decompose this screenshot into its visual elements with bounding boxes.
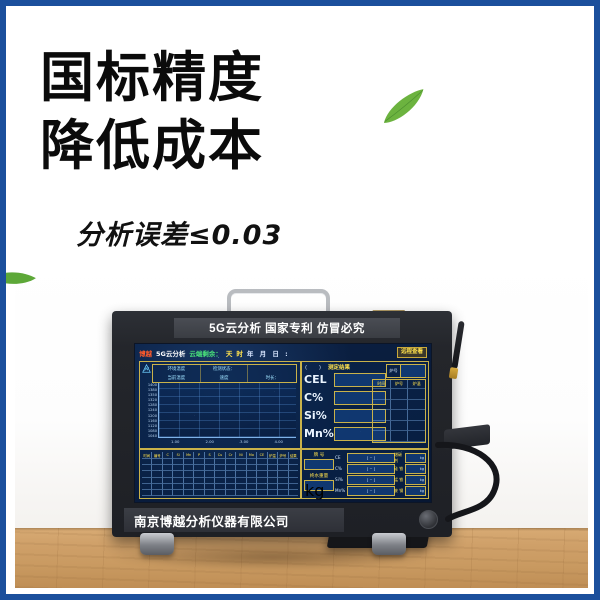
- addition-row-ferrosilicon: 硅 铁 kg: [394, 464, 426, 473]
- page-title: 国标精度 降低成本: [40, 44, 264, 180]
- range-label: CE: [335, 455, 346, 460]
- col-header: Mo: [247, 452, 257, 459]
- col-header: Ni: [236, 452, 246, 459]
- duration-label: 时长：: [248, 374, 296, 383]
- x-tick: 1.00: [171, 439, 179, 446]
- y-tick: 1280: [141, 403, 158, 407]
- history-table-panel[interactable]: 时间 编号 C Si Mn P S Cu Cr Ni Mo CE: [139, 449, 301, 499]
- col-header: P: [194, 452, 204, 459]
- chart-status-header: 环境温度 检测状态： 当前温度 速度 时长：: [152, 364, 297, 383]
- datetime-display: 年 月 日 :: [247, 348, 290, 358]
- range-value: [ ~ ]: [347, 464, 395, 474]
- col-header: Mn: [184, 452, 194, 459]
- table-header-row: 时间 炉号 炉温: [373, 380, 425, 389]
- device-banner: 5G云分析 国家专利 仿冒必究: [174, 318, 400, 338]
- col-header: S: [205, 452, 215, 459]
- col-header: Cu: [215, 452, 225, 459]
- range-label: Mn%: [335, 488, 346, 493]
- col-header: C: [163, 452, 173, 459]
- detect-status-label: 检测状态：: [201, 365, 249, 374]
- col-header: CE: [257, 452, 267, 459]
- addition-value: kg: [405, 453, 426, 463]
- range-label: C%: [335, 466, 346, 471]
- addition-row-carburizer: 增碳剂 kg: [394, 453, 426, 462]
- cable: [434, 439, 514, 523]
- result-label: CEL: [304, 374, 334, 385]
- cooling-curve-plot: [158, 383, 296, 438]
- col-header: 炉号: [391, 380, 409, 389]
- range-row-mn: Mn% [ ~ ]: [335, 486, 395, 495]
- furnace-number-field[interactable]: 炉号: [386, 364, 426, 378]
- analyzer-device: 5G云分析 国家专利 仿冒必究 博越 5G云分析 云端剩余： 天 时 年 月 日: [112, 311, 452, 537]
- poster-root: 国标精度 降低成本 分析误差≤0.03: [0, 0, 600, 600]
- addition-label: 硅 铁: [394, 466, 404, 472]
- addition-label: 锰 铁: [394, 477, 404, 483]
- result-title: ( ) 测定结果: [305, 363, 350, 371]
- y-tick: 1040: [141, 434, 158, 438]
- furnace-log-table[interactable]: 时间 炉号 炉温: [372, 379, 426, 443]
- result-label: Si%: [304, 410, 334, 421]
- range-label: Si%: [335, 477, 346, 482]
- chart-x-axis: 1.00 2.00 3.00 4.00: [158, 439, 296, 446]
- result-title-prefix: ( ): [305, 365, 326, 371]
- col-header: 时间: [373, 380, 391, 389]
- headline-line1: 国标精度: [40, 46, 264, 109]
- remote-view-button[interactable]: 远程查看: [397, 347, 427, 358]
- chart-y-axis: 1400 1380 1350 1320 1280 1240 1200 1160 …: [141, 383, 158, 438]
- table-row[interactable]: [142, 490, 298, 496]
- cloud-remaining-hour: 时: [236, 348, 243, 358]
- col-header: 时间: [142, 452, 152, 459]
- grade-value: [304, 459, 334, 470]
- measurement-result-panel: ( ) 测定结果 CEL C% Si%: [301, 361, 429, 449]
- headline-line2: 降低成本: [40, 112, 264, 180]
- addition-value: kg: [405, 486, 426, 496]
- screen-brand: 博越: [139, 348, 152, 358]
- grade-label: 牌 号: [304, 452, 334, 458]
- cloud-remaining-label: 云端剩余：: [189, 348, 222, 358]
- speed-label: 速度: [201, 374, 249, 383]
- col-header: 结果: [289, 452, 298, 459]
- table-header-row: 时间 编号 C Si Mn P S Cu Cr Ni Mo CE: [142, 452, 298, 459]
- x-tick: 3.00: [240, 439, 248, 446]
- device-foot: [372, 533, 406, 555]
- col-header: 编号: [152, 452, 162, 459]
- range-value: [ ~ ]: [347, 486, 395, 496]
- addition-row-scrap: 废 钢 kg: [394, 486, 426, 495]
- col-header: Si: [173, 452, 183, 459]
- company-name: 南京博越分析仪器有限公司: [124, 508, 344, 532]
- y-tick: 1240: [141, 408, 158, 412]
- addition-value: kg: [405, 475, 426, 485]
- y-tick: 1400: [141, 383, 158, 387]
- x-tick: 2.00: [206, 439, 214, 446]
- table-row[interactable]: [373, 431, 425, 442]
- leaf-icon: [375, 87, 432, 128]
- addition-label: 废 钢: [394, 488, 404, 494]
- col-header: 炉温: [268, 452, 278, 459]
- range-row-ce: CE [ ~ ]: [335, 453, 395, 462]
- furnace-number-value: [401, 365, 425, 377]
- cloud-remaining-day: 天: [226, 348, 233, 358]
- product-photo: 5G云分析 国家专利 仿冒必究 博越 5G云分析 云端剩余： 天 时 年 月 日: [12, 256, 588, 588]
- grade-addition-panel: 牌 号 终水重量 kg CE [ ~ ] C% [ ~ ]: [301, 449, 429, 499]
- furnace-number-label: 炉号: [387, 365, 401, 377]
- table-row[interactable]: [373, 421, 425, 432]
- addition-label: 增碳剂: [394, 452, 404, 464]
- subtitle: 分析误差≤0.03: [76, 213, 282, 252]
- y-tick: 1320: [141, 398, 158, 402]
- y-tick: 1120: [141, 424, 158, 428]
- y-tick: 1080: [141, 429, 158, 433]
- water-weight-label: 终水重量: [304, 473, 334, 479]
- screen-topbar: 博越 5G云分析 云端剩余： 天 时 年 月 日 : 远程查看: [139, 346, 427, 359]
- range-row-c: C% [ ~ ]: [335, 464, 395, 473]
- y-tick: 1350: [141, 393, 158, 397]
- result-title-text: 测定结果: [328, 365, 350, 371]
- range-value: [ ~ ]: [347, 475, 395, 485]
- addition-value: kg: [405, 464, 426, 474]
- curve-chart-panel: 环境温度 检测状态： 当前温度 速度 时长： 1400 1380 1350 13…: [139, 361, 301, 449]
- power-button[interactable]: [419, 510, 438, 529]
- range-value: [ ~ ]: [347, 453, 395, 463]
- warning-triangle-icon: [142, 364, 151, 373]
- chart-header-blank: [248, 365, 296, 374]
- water-weight-value: kg: [304, 480, 334, 491]
- y-tick: 1160: [141, 419, 158, 423]
- history-table: 时间 编号 C Si Mn P S Cu Cr Ni Mo CE: [142, 452, 298, 496]
- ambient-temp-label: 环境温度: [153, 365, 201, 374]
- y-tick: 1200: [141, 414, 158, 418]
- col-header: Cr: [226, 452, 236, 459]
- result-label: Mn%: [304, 428, 334, 439]
- table-row[interactable]: [373, 400, 425, 411]
- col-header: 炉温: [408, 380, 425, 389]
- current-temp-label: 当前温度: [153, 374, 201, 383]
- screen-title: 5G云分析: [156, 348, 185, 358]
- col-header: 炉号: [278, 452, 288, 459]
- x-tick: 4.00: [275, 439, 283, 446]
- addition-row-ferromanganese: 锰 铁 kg: [394, 475, 426, 484]
- grade-field[interactable]: 牌 号 终水重量 kg: [304, 452, 334, 491]
- y-tick: 1380: [141, 388, 158, 392]
- lcd-screen[interactable]: 博越 5G云分析 云端剩余： 天 时 年 月 日 : 远程查看 环境温度: [134, 343, 432, 503]
- device-foot: [140, 533, 174, 555]
- table-row[interactable]: [373, 410, 425, 421]
- result-label: C%: [304, 392, 334, 403]
- table-row[interactable]: [373, 389, 425, 400]
- range-row-si: Si% [ ~ ]: [335, 475, 395, 484]
